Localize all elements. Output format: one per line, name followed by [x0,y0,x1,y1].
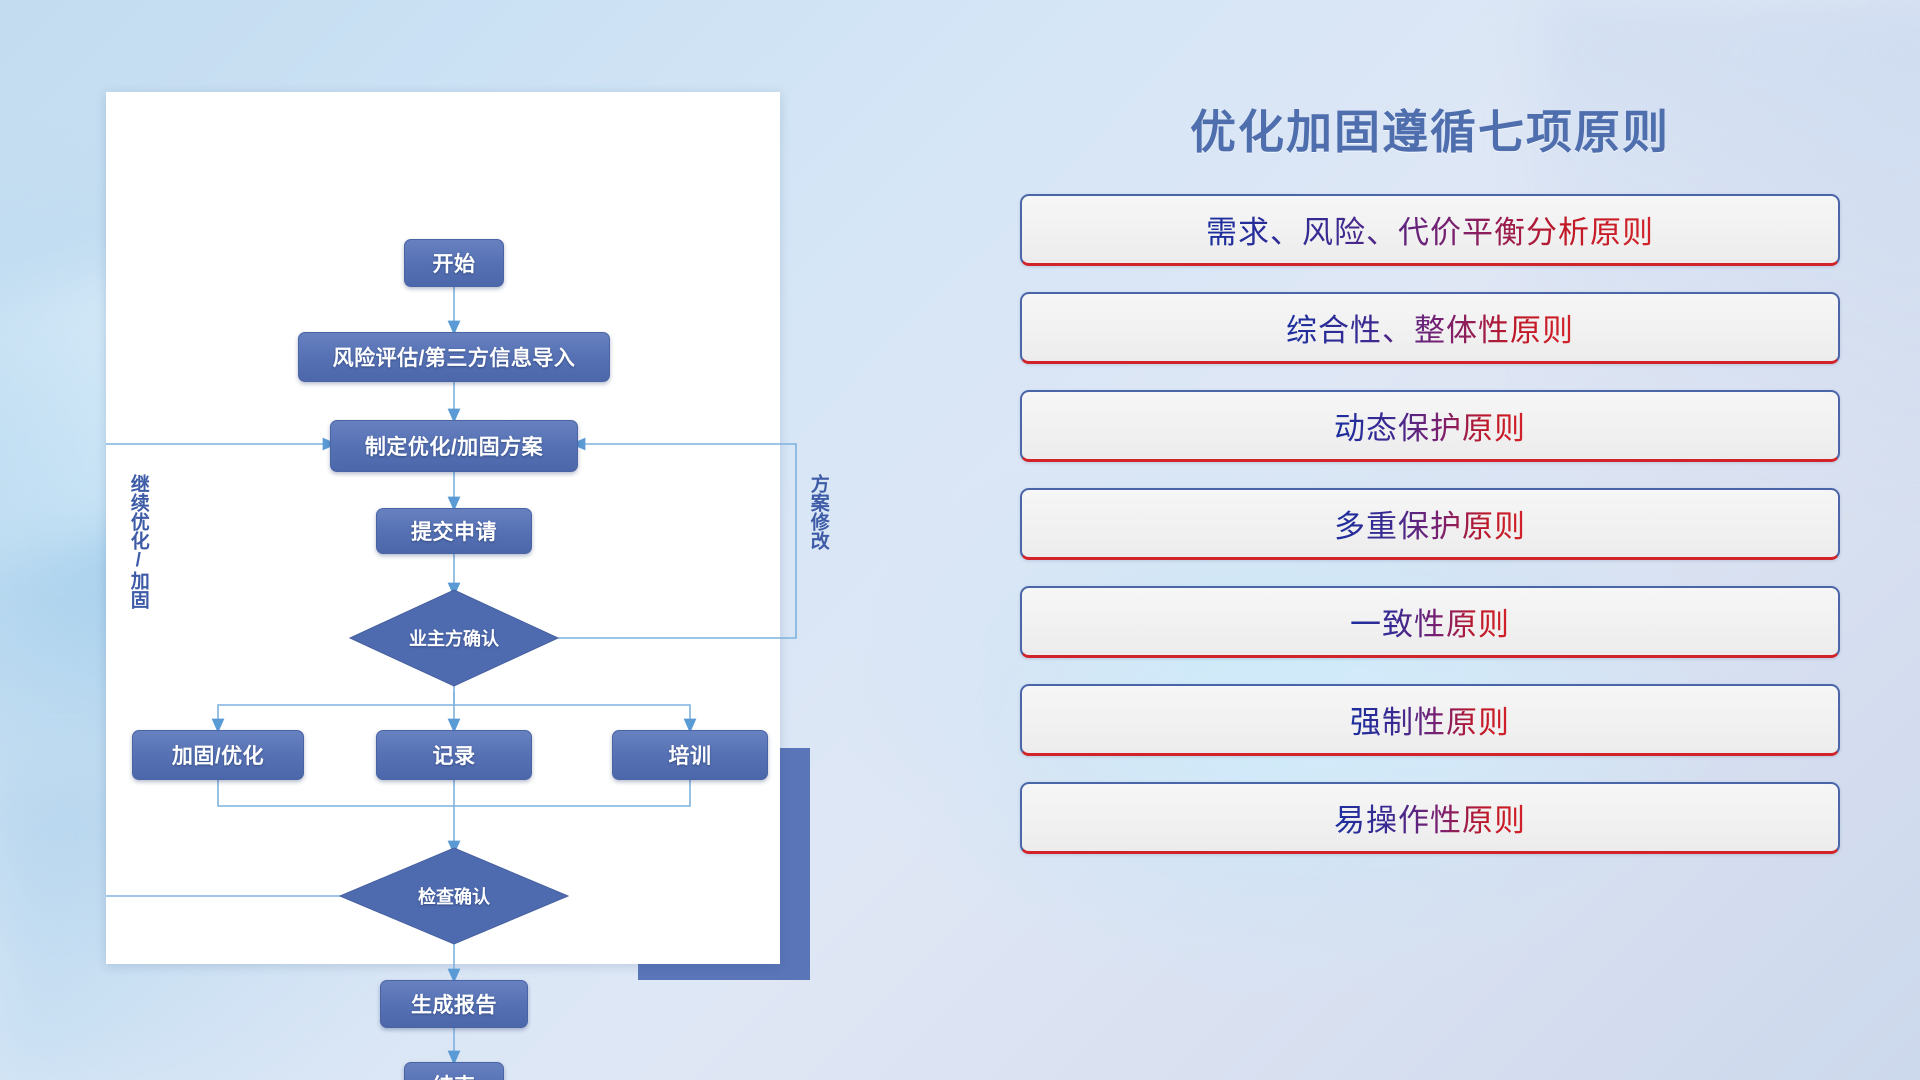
flow-node-owner-confirm[interactable]: 业主方确认 [350,590,558,686]
flow-node-risk-assessment[interactable]: 风险评估/第三方信息导入 [298,332,610,382]
flowchart: 开始 风险评估/第三方信息导入 制定优化/加固方案 提交申请 加固/优化 记录 … [106,92,926,1080]
principle-item-5[interactable]: 一致性原则 [1020,586,1840,658]
flow-node-submit-label: 提交申请 [411,516,497,546]
slide-canvas: 开始 风险评估/第三方信息导入 制定优化/加固方案 提交申请 加固/优化 记录 … [0,0,1920,1080]
flow-node-owner-confirm-label: 业主方确认 [350,590,558,686]
principle-item-2[interactable]: 综合性、整体性原则 [1020,292,1840,364]
flow-node-risk-assessment-label: 风险评估/第三方信息导入 [333,342,576,372]
flow-edge-label-continue-optimize: 继续优化/加固 [128,474,148,609]
principle-item-4[interactable]: 多重保护原则 [1020,488,1840,560]
flow-node-end-label: 结束 [433,1070,476,1080]
principle-item-6-label: 强制性原则 [1350,697,1510,742]
flow-node-plan-label: 制定优化/加固方案 [365,431,543,461]
flow-node-plan[interactable]: 制定优化/加固方案 [330,420,578,472]
principle-item-3-label: 动态保护原则 [1334,403,1526,448]
panel-title: 优化加固遵循七项原则 [1020,96,1840,162]
principle-item-1[interactable]: 需求、风险、代价平衡分析原则 [1020,194,1840,266]
principle-item-7[interactable]: 易操作性原则 [1020,782,1840,854]
flow-node-submit[interactable]: 提交申请 [376,508,532,554]
principle-item-1-label: 需求、风险、代价平衡分析原则 [1206,207,1654,252]
flow-node-end[interactable]: 结束 [404,1062,504,1080]
flow-node-reinforce[interactable]: 加固/优化 [132,730,304,780]
principles-panel: 优化加固遵循七项原则 需求、风险、代价平衡分析原则 综合性、整体性原则 动态保护… [1020,96,1840,1006]
flow-node-start-label: 开始 [433,248,476,278]
principle-item-2-label: 综合性、整体性原则 [1286,305,1574,350]
flow-node-record[interactable]: 记录 [376,730,532,780]
flow-node-report-label: 生成报告 [411,989,497,1019]
flow-node-check-confirm-label: 检查确认 [340,848,568,944]
flow-node-start[interactable]: 开始 [404,239,504,287]
flow-node-report[interactable]: 生成报告 [380,980,528,1028]
principle-item-6[interactable]: 强制性原则 [1020,684,1840,756]
flow-edge-label-plan-revision: 方案修改 [808,474,828,550]
flowchart-card: 开始 风险评估/第三方信息导入 制定优化/加固方案 提交申请 加固/优化 记录 … [106,92,780,964]
principle-item-5-label: 一致性原则 [1350,599,1510,644]
flow-node-check-confirm[interactable]: 检查确认 [340,848,568,944]
flow-node-training[interactable]: 培训 [612,730,768,780]
flow-node-record-label: 记录 [433,740,476,770]
principle-item-7-label: 易操作性原则 [1334,795,1526,840]
flow-node-reinforce-label: 加固/优化 [172,740,264,770]
principle-item-3[interactable]: 动态保护原则 [1020,390,1840,462]
principle-item-4-label: 多重保护原则 [1334,501,1526,546]
flow-node-training-label: 培训 [669,740,712,770]
